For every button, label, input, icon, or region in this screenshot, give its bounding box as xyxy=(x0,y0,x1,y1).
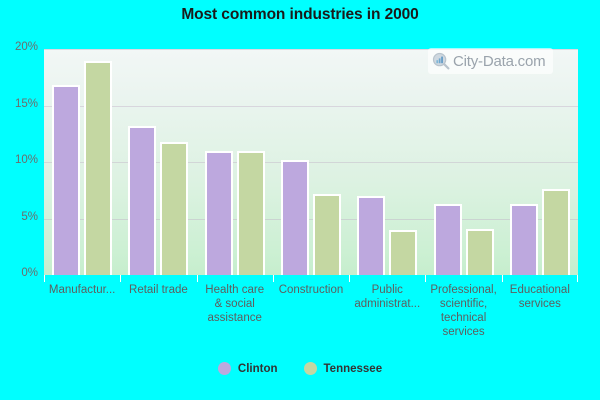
bar-tennessee[interactable] xyxy=(160,142,188,275)
bar-group xyxy=(44,49,120,275)
bar-group xyxy=(349,49,425,275)
bar-clinton[interactable] xyxy=(434,204,462,275)
bar-tennessee[interactable] xyxy=(84,61,112,275)
x-axis-label: Construction xyxy=(273,283,349,297)
bar-clinton[interactable] xyxy=(357,196,385,275)
x-axis-label: Manufactur... xyxy=(44,283,120,297)
bar-group xyxy=(197,49,273,275)
x-axis-label: Public administrat... xyxy=(349,283,425,311)
x-axis-label: Educational services xyxy=(502,283,578,311)
legend-swatch-clinton xyxy=(218,362,231,375)
x-tick xyxy=(120,275,121,282)
bar-tennessee[interactable] xyxy=(313,194,341,275)
bar-group xyxy=(425,49,501,275)
bar-tennessee[interactable] xyxy=(466,229,494,275)
x-tick xyxy=(197,275,198,282)
legend-item-tennessee[interactable]: Tennessee xyxy=(304,362,383,375)
chart-title: Most common industries in 2000 xyxy=(0,6,600,24)
bar-clinton[interactable] xyxy=(205,151,233,275)
bar-tennessee[interactable] xyxy=(542,189,570,275)
x-tick xyxy=(44,275,45,282)
x-tick xyxy=(502,275,503,282)
bar-group xyxy=(502,49,578,275)
legend-label: Tennessee xyxy=(324,363,383,375)
x-axis-label: Health care & social assistance xyxy=(197,283,273,325)
x-tick xyxy=(577,275,578,282)
x-axis-label: Professional, scientific, technical serv… xyxy=(425,283,501,339)
bar-tennessee[interactable] xyxy=(237,151,265,275)
bar-clinton[interactable] xyxy=(128,126,156,275)
legend-item-clinton[interactable]: Clinton xyxy=(218,362,278,375)
legend-label: Clinton xyxy=(238,363,278,375)
bar-group xyxy=(120,49,196,275)
x-axis: Manufactur...Retail tradeHealth care & s… xyxy=(44,275,578,355)
bar-clinton[interactable] xyxy=(281,160,309,275)
chart-legend: ClintonTennessee xyxy=(0,362,600,375)
bar-tennessee[interactable] xyxy=(389,230,417,275)
x-tick xyxy=(425,275,426,282)
bar-chart: Most common industries in 2000 0%5%10%15… xyxy=(0,0,600,400)
magnifier-bar-chart-icon xyxy=(432,52,450,70)
watermark: City-Data.com xyxy=(428,48,553,74)
plot-area xyxy=(44,49,578,275)
bar-group xyxy=(273,49,349,275)
x-tick xyxy=(273,275,274,282)
legend-swatch-tennessee xyxy=(304,362,317,375)
watermark-text: City-Data.com xyxy=(453,53,545,70)
bar-clinton[interactable] xyxy=(52,85,80,275)
x-axis-label: Retail trade xyxy=(120,283,196,297)
bar-clinton[interactable] xyxy=(510,204,538,275)
x-tick xyxy=(349,275,350,282)
